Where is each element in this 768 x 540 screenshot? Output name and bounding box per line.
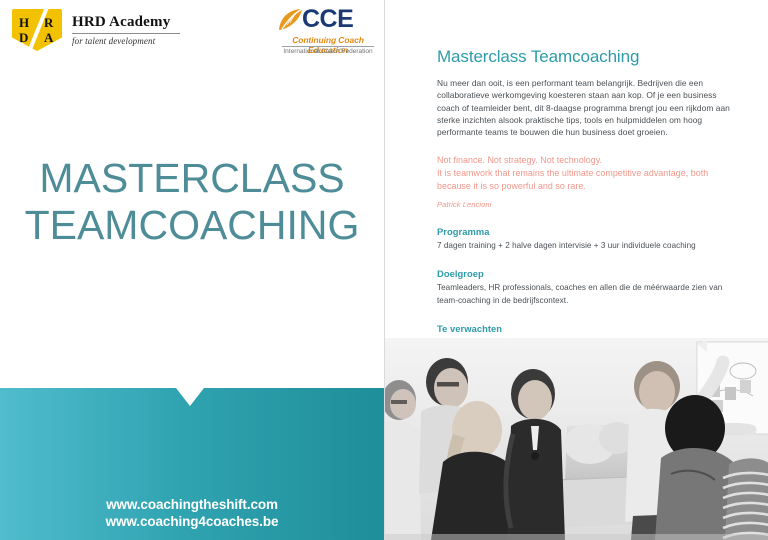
section-doelgroep: Doelgroep Teamleaders, HR professionals,…: [437, 267, 733, 306]
website-urls: www.coachingtheshift.com www.coaching4co…: [0, 496, 384, 530]
quote-line-3: because it is so powerful and so rare.: [437, 180, 733, 193]
cce-letters: CCE: [302, 6, 353, 33]
shield-letter-d: D: [19, 31, 28, 44]
workshop-photo-illustration: [385, 338, 768, 540]
quote-line-1: Not finance. Not strategy. Not technolog…: [437, 154, 733, 167]
quote-block: Not finance. Not strategy. Not technolog…: [437, 154, 733, 210]
detail-intro-paragraph: Nu meer dan ooit, is een performant team…: [437, 77, 733, 138]
triangle-notch-icon: [176, 388, 204, 406]
left-cover-panel: H R D A HRD Academy for talent developme…: [0, 0, 384, 540]
cover-title: MASTERCLASS TEAMCOACHING: [0, 155, 384, 249]
teal-footer-band: www.coachingtheshift.com www.coaching4co…: [0, 388, 384, 540]
detail-content: Masterclass Teamcoaching Nu meer dan ooi…: [437, 46, 733, 373]
quote-line-2: It is teamwork that remains the ultimate…: [437, 167, 733, 180]
section-body: Teamleaders, HR professionals, coaches e…: [437, 282, 733, 306]
section-heading: Doelgroep: [437, 267, 733, 280]
cce-federation: International Coach Federation: [278, 47, 378, 56]
hrd-tagline: for talent development: [72, 36, 184, 47]
shield-letter-a: A: [44, 31, 53, 44]
hrd-academy-logo: H R D A HRD Academy for talent developme…: [12, 9, 182, 51]
cce-logo-top: CCE: [278, 6, 378, 34]
section-body: 7 dagen training + 2 halve dagen intervi…: [437, 240, 733, 252]
cover-title-line2: TEAMCOACHING: [0, 202, 384, 249]
hrd-name: HRD Academy: [72, 14, 184, 31]
logo-row: H R D A HRD Academy for talent developme…: [0, 0, 384, 58]
shield-letter-r: R: [44, 16, 53, 29]
workshop-photo: [385, 338, 768, 540]
right-detail-panel: Masterclass Teamcoaching Nu meer dan ooi…: [385, 0, 768, 540]
hrd-shield-icon: H R D A: [12, 9, 62, 51]
hrd-wordmark: HRD Academy for talent development: [72, 14, 184, 47]
url-coaching4coaches[interactable]: www.coaching4coaches.be: [0, 513, 384, 530]
section-heading: Programma: [437, 225, 733, 238]
detail-title: Masterclass Teamcoaching: [437, 46, 733, 68]
hrd-divider: [72, 33, 180, 34]
url-coachingtheshift[interactable]: www.coachingtheshift.com: [0, 496, 384, 513]
cover-title-line1: MASTERCLASS: [39, 155, 344, 201]
section-heading: Te verwachten: [437, 322, 733, 335]
shield-letter-h: H: [19, 16, 29, 29]
cce-logo: CCE Continuing Coach Education Internati…: [278, 6, 378, 54]
cce-fan-icon: [278, 8, 304, 32]
brochure-page: H R D A HRD Academy for talent developme…: [0, 0, 768, 540]
quote-author: Patrick Lencioni: [437, 199, 733, 210]
section-programma: Programma 7 dagen training + 2 halve dag…: [437, 225, 733, 252]
